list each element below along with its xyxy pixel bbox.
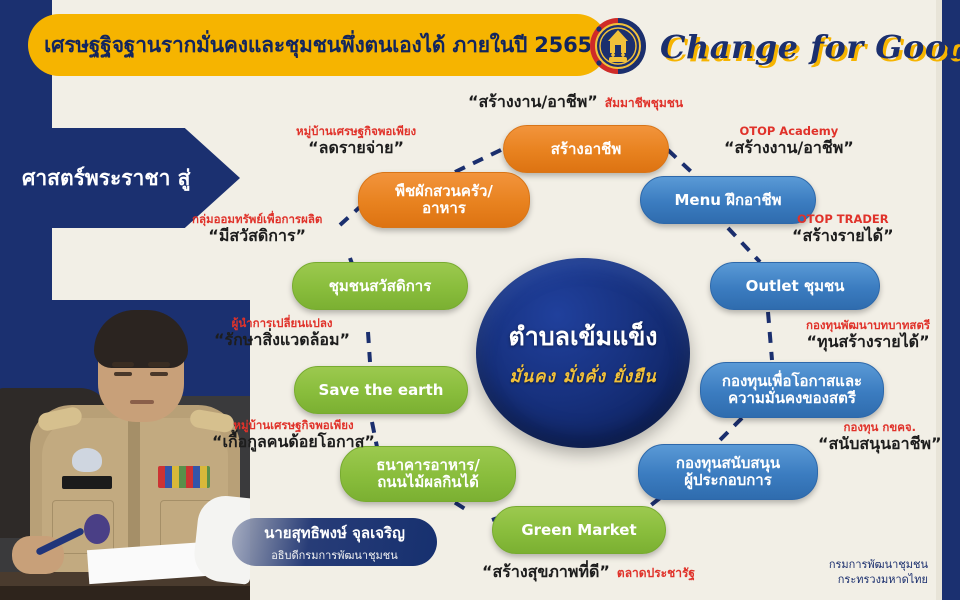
annotation-source: ผู้นำการเปลี่ยนแปลง <box>214 316 350 330</box>
ann-phu-nam-plian: ผู้นำการเปลี่ยนแปลง “รักษาสิ่งแวดล้อม” <box>214 316 350 350</box>
node-save-the-earth[interactable]: Save the earth <box>294 366 468 414</box>
node-kongthun-sanapsan[interactable]: กองทุนสนับสนุน ผู้ประกอบการ <box>638 444 818 500</box>
right-navy-band <box>942 0 960 600</box>
node-green-market[interactable]: Green Market <box>492 506 666 554</box>
infographic-canvas: เศรษฐฐิจฐานรากมั่นคงและชุมชนพึ่งตนเองได้… <box>0 0 960 600</box>
node-chumchon-sawat[interactable]: ชุมชนสวัสดิการ <box>292 262 468 310</box>
ann-kongthun-kokojo: กองทุน กขคจ. “สนับสนุนอาชีพ” <box>818 420 942 454</box>
ann-mu-ban-lod-raichai: หมู่บ้านเศรษฐกิจพอเพียง “ลดรายจ่าย” <box>296 124 416 158</box>
node-label-line1: Save the earth <box>319 382 444 399</box>
annotation-quote: “สร้างสุขภาพที่ดี” <box>482 562 610 582</box>
annotation-source: หมู่บ้านเศรษฐกิจพอเพียง <box>296 124 416 138</box>
footer-line-1: กรมการพัฒนาชุมชน <box>829 558 928 573</box>
annotation-source: กองทุน กขคจ. <box>818 420 942 434</box>
node-label-line2: ความมั่นคงของสตรี <box>728 390 856 407</box>
node-label-line1: Outlet ชุมชน <box>746 278 845 295</box>
annotation-source: หมู่บ้านเศรษฐกิจพอเพียง <box>212 418 375 432</box>
annotation-quote: “สนับสนุนอาชีพ” <box>818 434 942 454</box>
ann-mu-ban-kue-kun: หมู่บ้านเศรษฐกิจพอเพียง “เกื้อกูลคนด้อยโ… <box>212 418 375 452</box>
ann-green-market-health: “สร้างสุขภาพที่ดี” ตลาดประชารัฐ <box>482 562 695 582</box>
arrow-banner-label: ศาสตร์พระราชา สู่ <box>0 162 191 195</box>
cdd-emblem-logo <box>589 17 647 75</box>
ann-otop-academy: OTOP Academy “สร้างงาน/อาชีพ” <box>724 124 854 158</box>
footer-line-2: กระทรวงมหาดไทย <box>829 573 928 588</box>
header-banner-text: เศรษฐฐิจฐานรากมั่นคงและชุมชนพึ่งตนเองได้… <box>30 29 606 62</box>
node-kongthun-okat[interactable]: กองทุนเพื่อโอกาสและ ความมั่นคงของสตรี <box>700 362 884 418</box>
annotation-source: กลุ่มออมทรัพย์เพื่อการผลิต <box>192 212 322 226</box>
slogan-change-for-good: Change for Good <box>660 18 950 76</box>
annotation-quote: “เกื้อกูลคนด้อยโอกาส” <box>212 432 375 452</box>
ann-kongthun-botbat: กองทุนพัฒนาบทบาทสตรี “ทุนสร้างรายได้” <box>806 318 930 352</box>
annotation-source: กองทุนพัฒนาบทบาทสตรี <box>806 318 930 332</box>
node-label-line2: ผู้ประกอบการ <box>684 472 772 489</box>
node-outlet-chumchon[interactable]: Outlet ชุมชน <box>710 262 880 310</box>
annotation-source: OTOP Academy <box>724 124 854 138</box>
annotation-quote: “ทุนสร้างรายได้” <box>806 332 930 352</box>
ann-otop-trader: OTOP TRADER “สร้างรายได้” <box>792 212 894 246</box>
person-name-card: นายสุทธิพงษ์ จุลเจริญ อธิบดีกรมการพัฒนาช… <box>232 518 437 566</box>
core-title: ตำบลเข้มแข็ง <box>509 317 658 357</box>
core-circle: ตำบลเข้มแข็ง มั่นคง มั่งคั่ง ยั่งยืน <box>476 258 690 448</box>
node-menu-fuek-achip[interactable]: Menu ฝึกอาชีพ <box>640 176 816 224</box>
node-label-line1: พืชผักสวนครัว/ <box>395 183 493 200</box>
annotation-quote: “สร้างงาน/อาชีพ” <box>468 92 598 112</box>
annotation-quote: “สร้างงาน/อาชีพ” <box>724 138 854 158</box>
header-banner: เศรษฐฐิจฐานรากมั่นคงและชุมชนพึ่งตนเองได้… <box>28 14 608 76</box>
annotation-quote: “สร้างรายได้” <box>792 226 894 246</box>
node-label-line1: ชุมชนสวัสดิการ <box>329 278 432 295</box>
node-label-line1: Green Market <box>521 522 636 539</box>
node-thanakhan-ahan[interactable]: ธนาคารอาหาร/ ถนนไม้ผลกินได้ <box>340 446 516 502</box>
core-subtitle: มั่นคง มั่งคั่ง ยั่งยืน <box>509 363 656 390</box>
node-label-line1: สร้างอาชีพ <box>551 141 621 158</box>
node-label-line1: Menu ฝึกอาชีพ <box>674 192 781 209</box>
node-puch-phak[interactable]: พืชผักสวนครัว/ อาหาร <box>358 172 530 228</box>
node-sang-achip[interactable]: สร้างอาชีพ <box>503 125 669 173</box>
node-label-line2: ถนนไม้ผลกินได้ <box>377 474 479 491</box>
ann-klum-omsap: กลุ่มออมทรัพย์เพื่อการผลิต “มีสวัสดิการ” <box>192 212 322 246</box>
node-label-line1: กองทุนสนับสนุน <box>676 455 780 472</box>
node-label-line1: ธนาคารอาหาร/ <box>376 457 480 474</box>
ann-sang-ngan-achip-top: “สร้างงาน/อาชีพ” สัมมาชีพชุมชน <box>468 92 683 112</box>
annotation-source: ตลาดประชารัฐ <box>617 566 695 581</box>
annotation-source: สัมมาชีพชุมชน <box>605 96 683 111</box>
annotation-source: OTOP TRADER <box>792 212 894 226</box>
footer-credit: กรมการพัฒนาชุมชน กระทรวงมหาดไทย <box>829 558 928 588</box>
node-label-line1: กองทุนเพื่อโอกาสและ <box>722 373 862 390</box>
annotation-quote: “มีสวัสดิการ” <box>192 226 322 246</box>
person-name: นายสุทธิพงษ์ จุลเจริญ <box>264 521 405 545</box>
node-label-line2: อาหาร <box>422 200 466 217</box>
slogan-text: Change for Good <box>660 28 960 66</box>
person-title: อธิบดีกรมการพัฒนาชุมชน <box>271 546 398 564</box>
annotation-quote: “ลดรายจ่าย” <box>296 138 416 158</box>
annotation-quote: “รักษาสิ่งแวดล้อม” <box>214 330 350 350</box>
